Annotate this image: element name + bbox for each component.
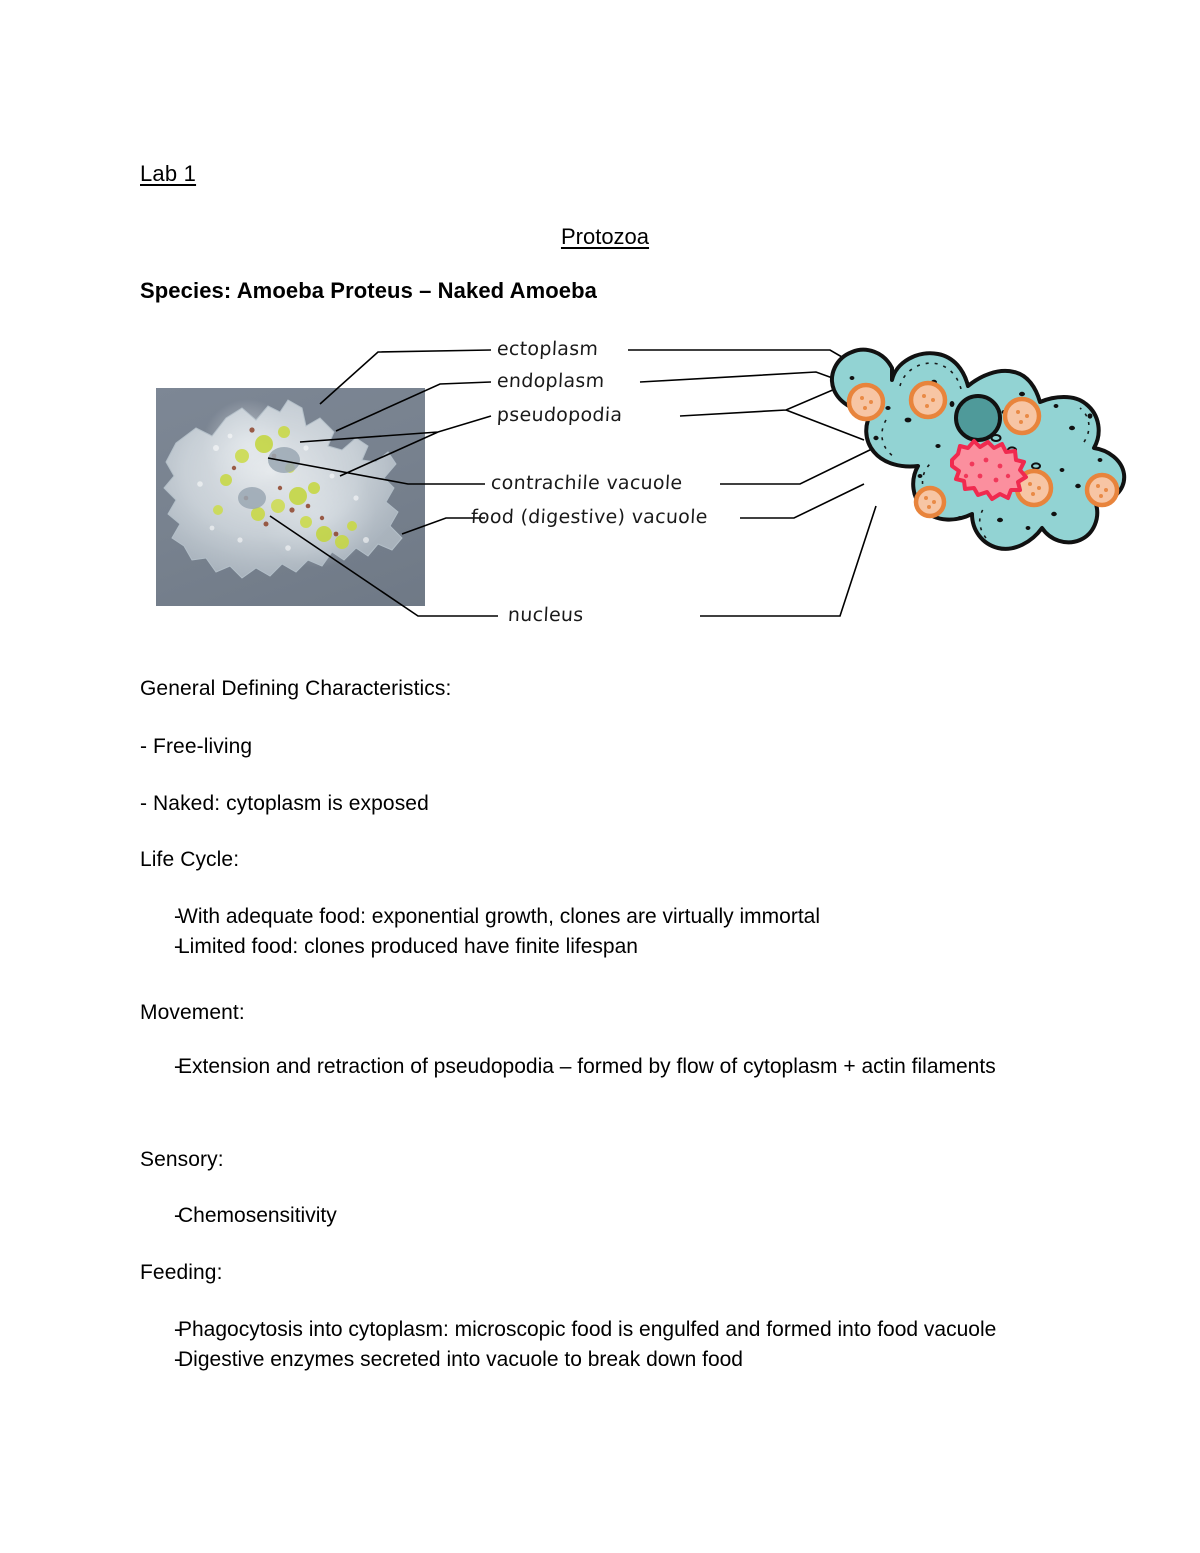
label-contractile-vacuole: contrachile vacuole bbox=[490, 472, 683, 494]
label-ectoplasm: ectoplasm bbox=[496, 338, 598, 360]
bullet-marker: - bbox=[140, 1053, 178, 1081]
heading-feeding: Feeding: bbox=[140, 1259, 223, 1287]
bullets-sensory: - Chemosensitivity bbox=[140, 1202, 1070, 1232]
document-page: Lab 1 Protozoa Species: Amoeba Proteus –… bbox=[0, 0, 1200, 1553]
bullets-life-cycle: - With adequate food: exponential growth… bbox=[140, 903, 1070, 963]
label-pseudopodia: pseudopodia bbox=[496, 404, 622, 426]
list-item: - With adequate food: exponential growth… bbox=[140, 903, 1070, 931]
line-free-living: - Free-living bbox=[140, 733, 252, 761]
bullet-marker: - bbox=[140, 933, 178, 961]
contractile-vacuole-shape bbox=[956, 396, 1000, 440]
protozoa-heading-text: Protozoa bbox=[561, 224, 649, 249]
heading-general-characteristics: General Defining Characteristics: bbox=[140, 675, 451, 703]
amoeba-figure: ectoplasm endoplasm pseudopodia contrach… bbox=[140, 336, 1070, 646]
bullet-life-cycle-limited-food: Limited food: clones produced have finit… bbox=[178, 933, 1040, 961]
bullet-sensory-chemosensitivity: Chemosensitivity bbox=[178, 1202, 1040, 1230]
bullet-life-cycle-adequate-food: With adequate food: exponential growth, … bbox=[178, 903, 1040, 931]
heading-sensory: Sensory: bbox=[140, 1146, 224, 1174]
lab-heading: Lab 1 bbox=[140, 161, 196, 187]
bullet-marker: - bbox=[140, 1346, 178, 1374]
bullet-marker: - bbox=[140, 1202, 178, 1230]
bullets-feeding: - Phagocytosis into cytoplasm: microscop… bbox=[140, 1316, 1070, 1376]
species-heading: Species: Amoeba Proteus – Naked Amoeba bbox=[140, 278, 597, 304]
amoeba-diagram bbox=[832, 350, 1124, 549]
bullet-feeding-digestive-enzymes: Digestive enzymes secreted into vacuole … bbox=[178, 1346, 1040, 1374]
heading-life-cycle: Life Cycle: bbox=[140, 846, 239, 874]
bullet-feeding-phagocytosis: Phagocytosis into cytoplasm: microscopic… bbox=[178, 1316, 1040, 1344]
bullet-marker: - bbox=[140, 903, 178, 931]
list-item: - Limited food: clones produced have fin… bbox=[140, 933, 1070, 961]
bullet-movement-pseudopodia: Extension and retraction of pseudopodia … bbox=[178, 1053, 1040, 1081]
list-item: - Extension and retraction of pseudopodi… bbox=[140, 1053, 1070, 1081]
list-item: - Chemosensitivity bbox=[140, 1202, 1070, 1230]
label-nucleus: nucleus bbox=[507, 604, 584, 626]
heading-movement: Movement: bbox=[140, 999, 245, 1027]
line-naked-cytoplasm: - Naked: cytoplasm is exposed bbox=[140, 790, 429, 818]
label-endoplasm: endoplasm bbox=[496, 370, 605, 392]
leader-lines-left bbox=[268, 350, 498, 616]
list-item: - Phagocytosis into cytoplasm: microscop… bbox=[140, 1316, 1070, 1344]
bullet-marker: - bbox=[140, 1316, 178, 1344]
list-item: - Digestive enzymes secreted into vacuol… bbox=[140, 1346, 1070, 1374]
label-food-vacuole: food (digestive) vacuole bbox=[470, 506, 708, 528]
bullets-movement: - Extension and retraction of pseudopodi… bbox=[140, 1053, 1070, 1083]
protozoa-heading: Protozoa bbox=[140, 224, 1070, 250]
